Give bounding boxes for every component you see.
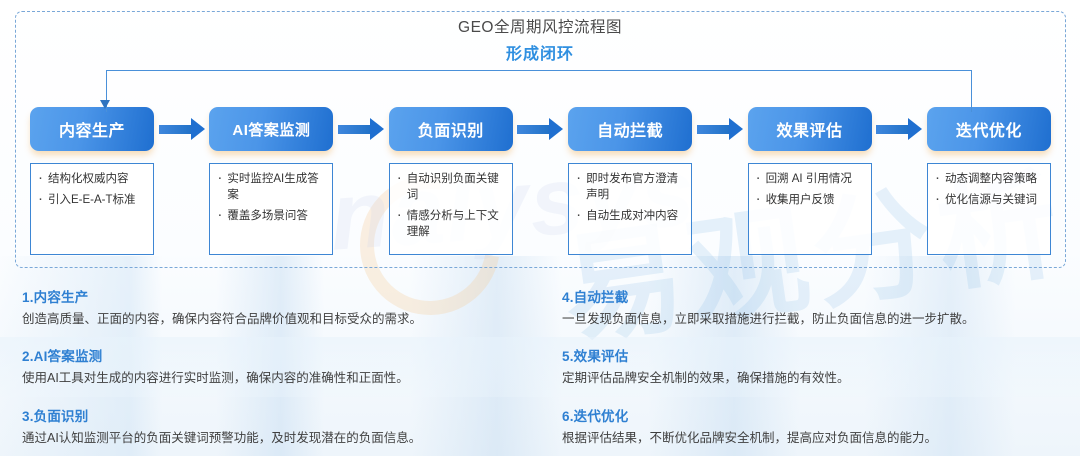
description-heading: 5.效果评估 [562,345,1058,365]
detail-bullet: 引入E-E-A-T标准 [35,192,148,208]
detail-box-content-production: 结构化权威内容 引入E-E-A-T标准 [30,163,154,255]
detail-bullet: 覆盖多场景问答 [214,208,327,224]
detail-bullet: 自动生成对冲内容 [573,208,686,224]
description-body: 创造高质量、正面的内容，确保内容符合品牌价值观和目标受众的需求。 [22,311,518,328]
description-body: 定期评估品牌安全机制的效果，确保措施的有效性。 [562,370,1058,387]
flow-arrow-icon-3 [517,123,563,136]
detail-bullet: 即时发布官方澄清声明 [573,171,686,203]
diagram-stage: GEO全周期风控流程图 形成闭环 内容生产 AI答案监测 负面识别 自动拦截 [0,0,1080,456]
description-heading: 3.负面识别 [22,405,518,425]
detail-bullet: 回溯 AI 引用情况 [753,171,866,187]
flow-step-label: 内容生产 [59,117,125,141]
description-body: 一旦发现负面信息，立即采取措施进行拦截，防止负面信息的进一步扩散。 [562,311,1058,328]
description-item-4: 4.自动拦截 一旦发现负面信息，立即采取措施进行拦截，防止负面信息的进一步扩散。 [540,278,1080,337]
detail-bullet: 情感分析与上下文理解 [394,208,507,240]
page-title: GEO全周期风控流程图 [0,15,1080,37]
flow-arrow-icon-4 [697,123,743,136]
detail-box-ai-answer-monitoring: 实时监控AI生成答案 覆盖多场景问答 [209,163,333,255]
page-subtitle: 形成闭环 [0,40,1080,64]
description-heading: 2.AI答案监测 [22,345,518,365]
detail-box-iterative-optimization: 动态调整内容策略 优化信源与关键词 [927,163,1051,255]
flow-step-label: 自动拦截 [597,117,663,141]
flow-arrow-icon-1 [159,123,205,136]
flow-step-effect-evaluation[interactable]: 效果评估 [748,107,872,151]
flow-step-label: 迭代优化 [956,117,1022,141]
flow-step-negative-detection[interactable]: 负面识别 [389,107,513,151]
detail-bullet: 优化信源与关键词 [932,192,1045,208]
description-body: 根据评估结果，不断优化品牌安全机制，提高应对负面信息的能力。 [562,430,1058,447]
flow-step-label: 效果评估 [776,117,842,141]
description-heading: 1.内容生产 [22,286,518,306]
detail-bullet: 自动识别负面关键词 [394,171,507,203]
description-item-6: 6.迭代优化 根据评估结果，不断优化品牌安全机制，提高应对负面信息的能力。 [540,397,1080,456]
description-heading: 6.迭代优化 [562,405,1058,425]
flow-step-label: 负面识别 [418,117,484,141]
description-heading: 4.自动拦截 [562,286,1058,306]
description-item-5: 5.效果评估 定期评估品牌安全机制的效果，确保措施的有效性。 [540,337,1080,396]
flow-step-ai-answer-monitoring[interactable]: AI答案监测 [209,107,333,151]
flow-step-auto-interception[interactable]: 自动拦截 [568,107,692,151]
detail-bullet: 实时监控AI生成答案 [214,171,327,203]
description-item-3: 3.负面识别 通过AI认知监测平台的负面关键词预警功能，及时发现潜在的负面信息。 [0,397,540,456]
detail-box-auto-interception: 即时发布官方澄清声明 自动生成对冲内容 [568,163,692,255]
loop-back-connector [106,70,972,112]
loop-back-arrowhead-icon [100,100,110,109]
description-body: 通过AI认知监测平台的负面关键词预警功能，及时发现潜在的负面信息。 [22,430,518,447]
flow-details-row: 结构化权威内容 引入E-E-A-T标准 实时监控AI生成答案 覆盖多场景问答 自… [30,163,1051,255]
flow-step-label: AI答案监测 [232,119,310,140]
flow-step-iterative-optimization[interactable]: 迭代优化 [927,107,1051,151]
flow-steps-row: 内容生产 AI答案监测 负面识别 自动拦截 效果评估 迭代优 [30,105,1051,153]
detail-box-negative-detection: 自动识别负面关键词 情感分析与上下文理解 [389,163,513,255]
detail-box-effect-evaluation: 回溯 AI 引用情况 收集用户反馈 [748,163,872,255]
flow-arrow-icon-2 [338,123,384,136]
detail-bullet: 动态调整内容策略 [932,171,1045,187]
description-item-1: 1.内容生产 创造高质量、正面的内容，确保内容符合品牌价值观和目标受众的需求。 [0,278,540,337]
detail-bullet: 收集用户反馈 [753,192,866,208]
descriptions-grid: 1.内容生产 创造高质量、正面的内容，确保内容符合品牌价值观和目标受众的需求。 … [0,278,1080,456]
flow-arrow-icon-5 [876,123,922,136]
detail-bullet: 结构化权威内容 [35,171,148,187]
flow-step-content-production[interactable]: 内容生产 [30,107,154,151]
description-item-2: 2.AI答案监测 使用AI工具对生成的内容进行实时监测，确保内容的准确性和正面性… [0,337,540,396]
description-body: 使用AI工具对生成的内容进行实时监测，确保内容的准确性和正面性。 [22,370,518,387]
